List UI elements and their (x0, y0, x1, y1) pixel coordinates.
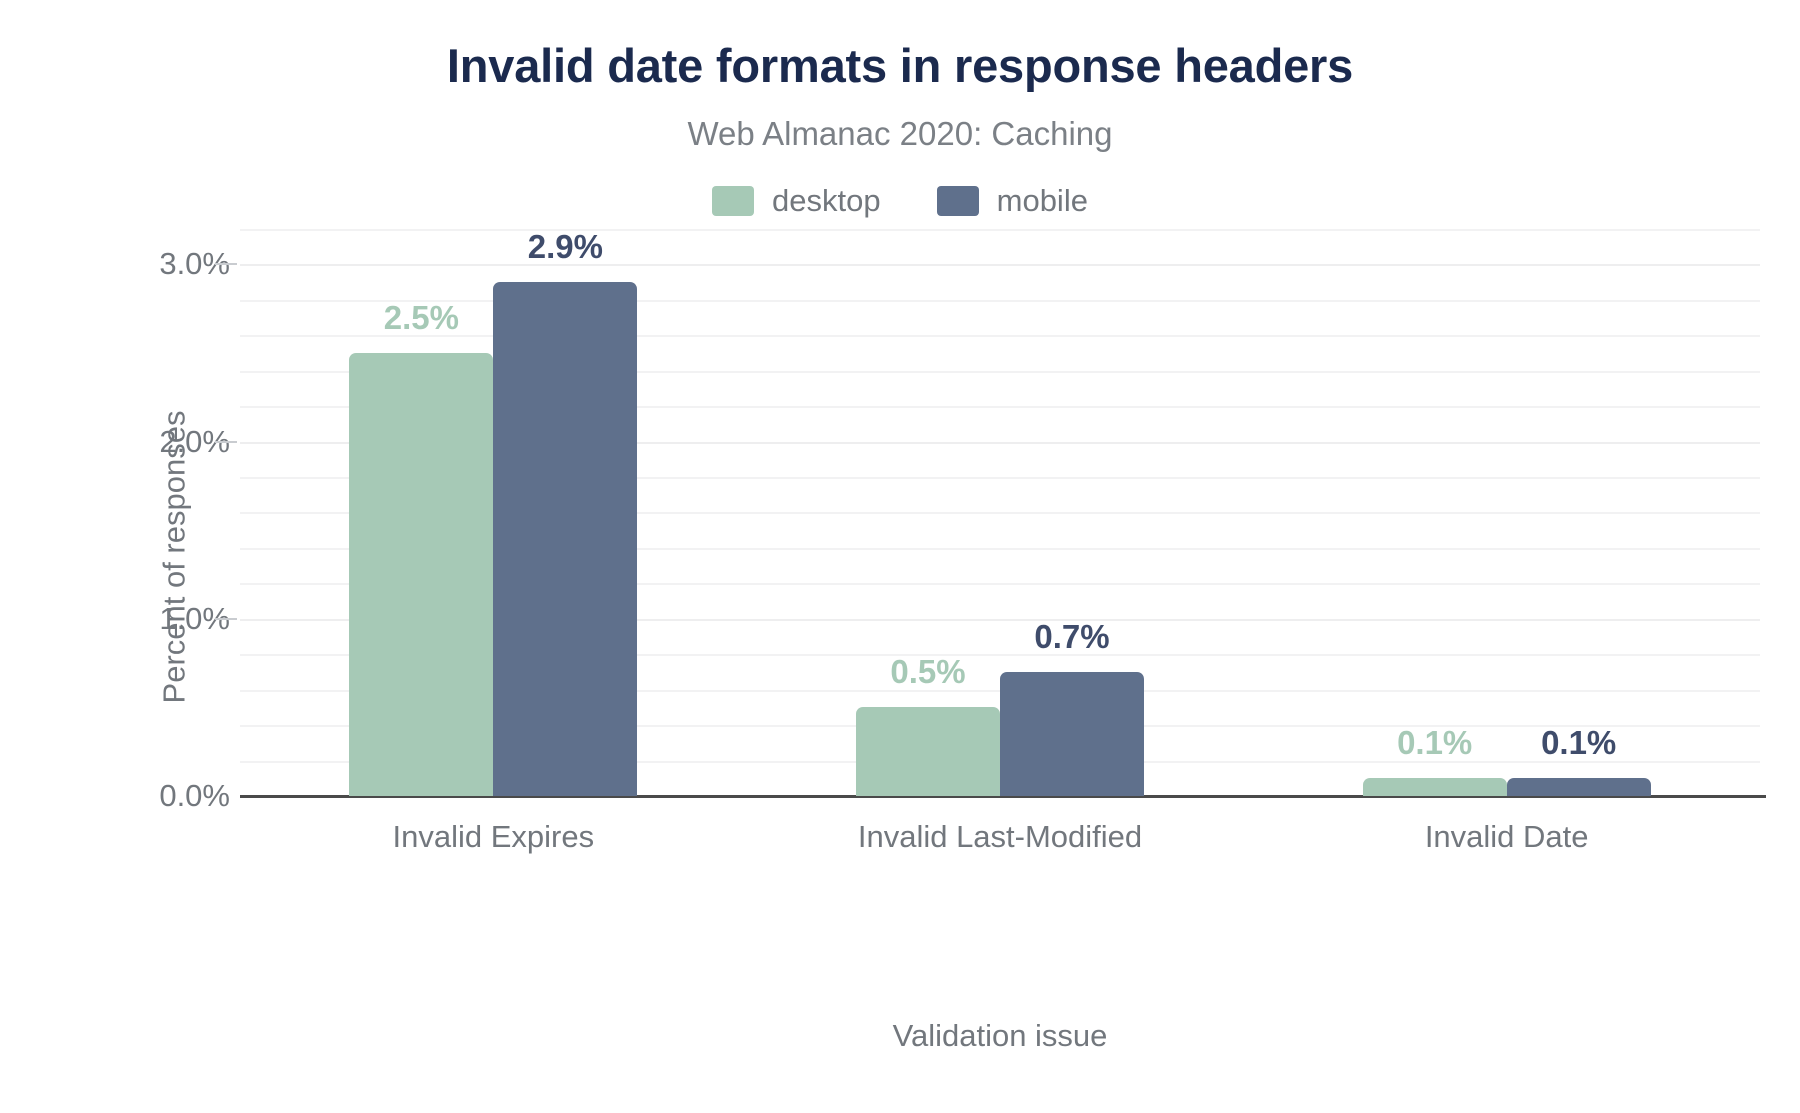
bar-slot-mobile: 0.7% (1000, 220, 1144, 796)
y-axis-tick-mark (215, 263, 237, 265)
bar-groups: 2.5%2.9%0.5%0.7%0.1%0.1% (240, 220, 1760, 796)
chart-legend: desktop mobile (0, 183, 1800, 219)
bar-desktop[interactable] (1363, 778, 1507, 796)
y-axis-tick-mark (215, 441, 237, 443)
bar-group: 0.1%0.1% (1253, 220, 1760, 796)
y-axis-tick-label: 3.0% (50, 246, 230, 282)
bar-value-label-mobile: 2.9% (455, 228, 675, 266)
legend-item-desktop[interactable]: desktop (712, 183, 881, 219)
bar-group-bars: 0.1%0.1% (1253, 220, 1760, 796)
bar-mobile[interactable] (1507, 778, 1651, 796)
legend-item-mobile[interactable]: mobile (937, 183, 1088, 219)
x-axis-ticks: Invalid ExpiresInvalid Last-ModifiedInva… (240, 805, 1760, 855)
bar-desktop[interactable] (856, 707, 1000, 796)
y-axis-tick-label: 0.0% (50, 778, 230, 814)
x-axis-title: Validation issue (240, 1018, 1760, 1054)
legend-label-desktop: desktop (772, 183, 881, 219)
chart-container: Invalid date formats in response headers… (0, 0, 1800, 1113)
x-axis-tick-label: Invalid Expires (240, 805, 747, 855)
bar-group: 0.5%0.7% (747, 220, 1254, 796)
bar-group-bars: 0.5%0.7% (747, 220, 1254, 796)
bar-value-label-mobile: 0.1% (1469, 724, 1689, 762)
y-axis-tick-label: 1.0% (50, 601, 230, 637)
bar-desktop[interactable] (349, 353, 493, 796)
legend-swatch-desktop (712, 186, 754, 216)
bar-slot-mobile: 2.9% (493, 220, 637, 796)
y-axis-tick-mark (215, 618, 237, 620)
bar-mobile[interactable] (1000, 672, 1144, 796)
x-axis-tick-label: Invalid Date (1253, 805, 1760, 855)
bar-slot-desktop: 0.5% (856, 220, 1000, 796)
bar-slot-desktop: 2.5% (349, 220, 493, 796)
legend-label-mobile: mobile (997, 183, 1088, 219)
bar-slot-mobile: 0.1% (1507, 220, 1651, 796)
bar-mobile[interactable] (493, 282, 637, 796)
chart-title: Invalid date formats in response headers (0, 38, 1800, 93)
y-axis-tick-label: 2.0% (50, 424, 230, 460)
chart-subtitle: Web Almanac 2020: Caching (0, 115, 1800, 153)
x-axis-tick-label: Invalid Last-Modified (747, 805, 1254, 855)
legend-swatch-mobile (937, 186, 979, 216)
bar-value-label-mobile: 0.7% (962, 618, 1182, 656)
bar-group-bars: 2.5%2.9% (240, 220, 747, 796)
bar-slot-desktop: 0.1% (1363, 220, 1507, 796)
bar-group: 2.5%2.9% (240, 220, 747, 796)
